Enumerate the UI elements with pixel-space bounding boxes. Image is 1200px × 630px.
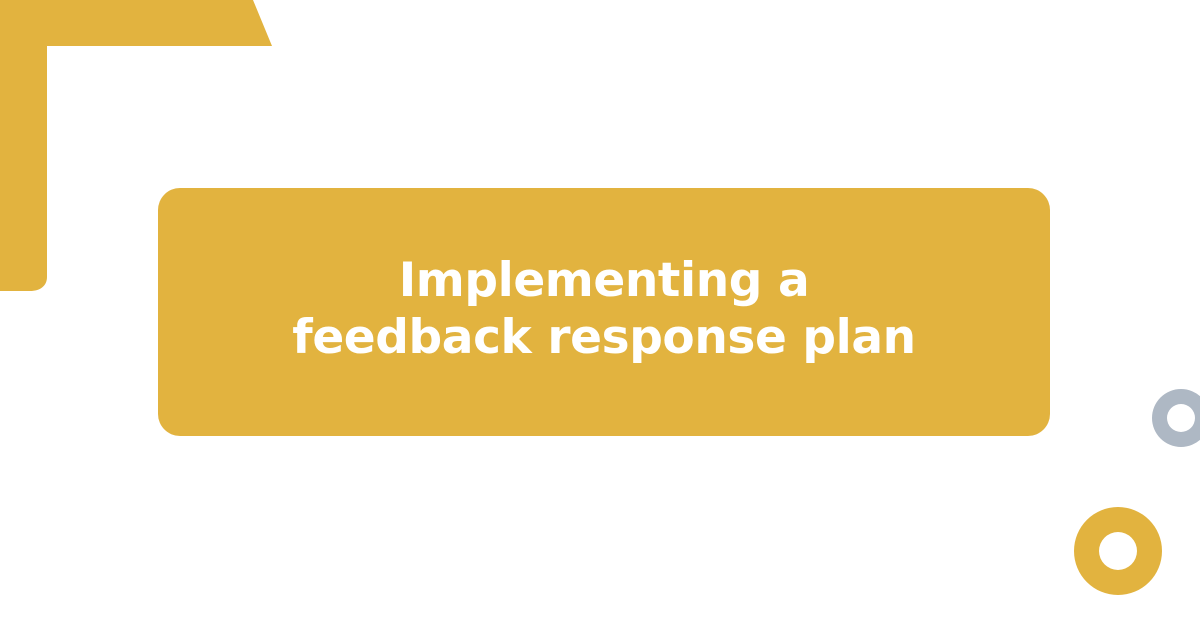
banner-canvas: Implementing a feedback response plan <box>0 0 1200 630</box>
yellow-ring-decoration <box>1070 503 1166 599</box>
page-title: Implementing a feedback response plan <box>284 252 924 367</box>
gray-ring-icon <box>1146 383 1200 453</box>
gray-ring-decoration <box>1146 383 1200 453</box>
yellow-ring-icon <box>1070 503 1166 599</box>
title-card[interactable]: Implementing a feedback response plan <box>158 188 1050 436</box>
page-title-line-2: response plan <box>547 310 915 365</box>
